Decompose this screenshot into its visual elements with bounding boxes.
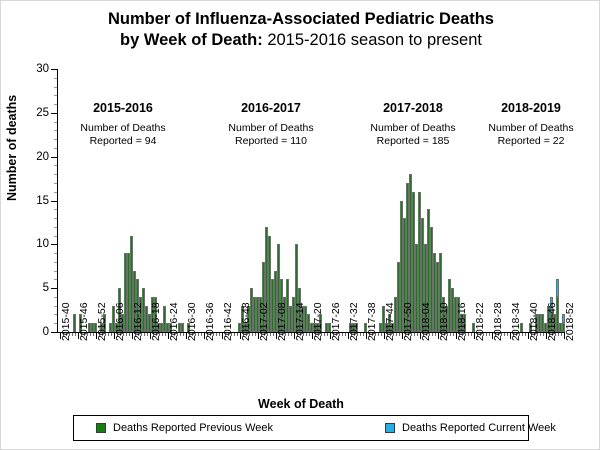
- season-annotation-2017-2018: 2017-2018 Number of Deaths Reported = 18…: [353, 101, 473, 148]
- season-name: 2017-2018: [353, 101, 473, 117]
- x-tick-label: 2015-46: [78, 302, 90, 341]
- y-tick-label: 25: [36, 107, 49, 119]
- legend-swatch-previous-week-icon: [96, 423, 106, 433]
- season-annotation-2015-2016: 2015-2016 Number of Deaths Reported = 94: [63, 101, 183, 148]
- x-tick-label: 2018-04: [420, 302, 432, 341]
- y-tick-minor: [54, 130, 57, 131]
- y-tick-minor: [54, 192, 57, 193]
- x-tick-label: 2017-14: [294, 302, 306, 341]
- x-tick-label: 2016-06: [114, 302, 126, 341]
- x-tick-label: 2016-24: [168, 302, 180, 341]
- y-tick-label: 10: [36, 238, 49, 250]
- season-line-1: Number of Deaths: [353, 122, 473, 135]
- y-tick-minor: [54, 253, 57, 254]
- chart-title-line-2-normal-text: 2015-2016 season to present: [263, 31, 482, 49]
- season-line-2: Reported = 22: [471, 135, 591, 148]
- y-tick-minor: [54, 183, 57, 184]
- x-tick-label: 2017-08: [276, 302, 288, 341]
- x-tick-label: 2016-42: [222, 302, 234, 341]
- y-tick-minor: [54, 104, 57, 105]
- y-tick-minor: [54, 262, 57, 263]
- y-tick-major: [51, 69, 57, 70]
- season-line-2: Reported = 94: [63, 135, 183, 148]
- x-tick-label: 2017-32: [348, 302, 360, 341]
- chart-title-line-2-bold-text: by Week of Death:: [120, 31, 263, 49]
- y-tick-minor: [54, 279, 57, 280]
- x-tick-label: 2016-18: [150, 302, 162, 341]
- season-line-1: Number of Deaths: [63, 122, 183, 135]
- chart-title-line-1: Number of Influenza-Associated Pediatric…: [1, 9, 600, 30]
- y-tick-minor: [54, 306, 57, 307]
- x-tick-label: 2017-50: [402, 302, 414, 341]
- x-tick-label: 2018-10: [438, 302, 450, 341]
- x-tick-label: 2018-34: [510, 302, 522, 341]
- x-tick-label: 2017-26: [330, 302, 342, 341]
- x-tick-label: 2018-40: [528, 302, 540, 341]
- chart-title: Number of Influenza-Associated Pediatric…: [1, 9, 600, 51]
- x-tick-label: 2016-30: [186, 302, 198, 341]
- y-tick-minor: [54, 174, 57, 175]
- y-tick-minor: [54, 148, 57, 149]
- y-tick-major: [51, 244, 57, 245]
- x-tick-label: 2016-36: [204, 302, 216, 341]
- y-tick-minor: [54, 297, 57, 298]
- x-label-cell: 2018-52: [562, 341, 565, 403]
- season-line-2: Reported = 185: [353, 135, 473, 148]
- x-tick-label: 2017-02: [258, 302, 270, 341]
- legend-item-previous-week: Deaths Reported Previous Week: [96, 422, 273, 434]
- y-tick-minor: [54, 314, 57, 315]
- x-tick-label: 2018-52: [564, 302, 576, 341]
- season-line-2: Reported = 110: [211, 135, 331, 148]
- legend-label-current-week: Deaths Reported Current Week: [402, 422, 556, 434]
- y-tick-minor: [54, 218, 57, 219]
- x-tick-label: 2017-38: [366, 302, 378, 341]
- x-tick-label: 2016-48: [240, 302, 252, 341]
- season-line-1: Number of Deaths: [211, 122, 331, 135]
- chart-title-line-1-text: Number of Influenza-Associated Pediatric…: [108, 10, 494, 28]
- y-tick-label: 15: [36, 195, 49, 207]
- chart-legend: Deaths Reported Previous Week Deaths Rep…: [73, 415, 529, 441]
- x-tick-label: 2018-46: [546, 302, 558, 341]
- y-tick-minor: [54, 87, 57, 88]
- season-line-1: Number of Deaths: [471, 122, 591, 135]
- y-tick-minor: [54, 236, 57, 237]
- x-tick-label: 2018-16: [456, 302, 468, 341]
- x-tick-label: 2018-28: [492, 302, 504, 341]
- y-tick-major: [51, 113, 57, 114]
- y-tick-major: [51, 157, 57, 158]
- y-tick-minor: [54, 209, 57, 210]
- x-tick-label: 2015-52: [96, 302, 108, 341]
- x-axis-labels: 2015-402015-462015-522016-062016-122016-…: [58, 341, 565, 403]
- y-tick-label: 30: [36, 63, 49, 75]
- legend-item-current-week: Deaths Reported Current Week: [385, 422, 556, 434]
- legend-label-previous-week: Deaths Reported Previous Week: [113, 422, 273, 434]
- season-annotation-2016-2017: 2016-2017 Number of Deaths Reported = 11…: [211, 101, 331, 148]
- x-tick-label: 2017-44: [384, 302, 396, 341]
- y-tick-minor: [54, 139, 57, 140]
- y-tick-minor: [54, 227, 57, 228]
- y-tick-label: 20: [36, 151, 49, 163]
- season-name: 2018-2019: [471, 101, 591, 117]
- y-tick-label: 0: [43, 326, 49, 338]
- y-tick-label: 5: [43, 282, 49, 294]
- chart-title-line-2: by Week of Death: 2015-2016 season to pr…: [1, 30, 600, 51]
- chart-container: Number of Influenza-Associated Pediatric…: [0, 0, 600, 450]
- y-tick-minor: [54, 122, 57, 123]
- y-tick-minor: [54, 323, 57, 324]
- y-tick-minor: [54, 271, 57, 272]
- legend-swatch-current-week-icon: [385, 423, 395, 433]
- season-name: 2015-2016: [63, 101, 183, 117]
- x-tick-label: 2017-20: [312, 302, 324, 341]
- season-name: 2016-2017: [211, 101, 331, 117]
- y-axis-title: Number of deaths: [5, 95, 19, 201]
- season-annotation-2018-2019: 2018-2019 Number of Deaths Reported = 22: [471, 101, 591, 148]
- y-tick-minor: [54, 78, 57, 79]
- y-tick-major: [51, 332, 57, 333]
- x-tick-label: 2015-40: [60, 302, 72, 341]
- x-axis-title: Week of Death: [1, 397, 600, 411]
- y-tick-major: [51, 201, 57, 202]
- x-tick-label: 2018-22: [474, 302, 486, 341]
- y-tick-minor: [54, 165, 57, 166]
- x-tick-label: 2016-12: [132, 302, 144, 341]
- y-tick-major: [51, 288, 57, 289]
- y-tick-minor: [54, 95, 57, 96]
